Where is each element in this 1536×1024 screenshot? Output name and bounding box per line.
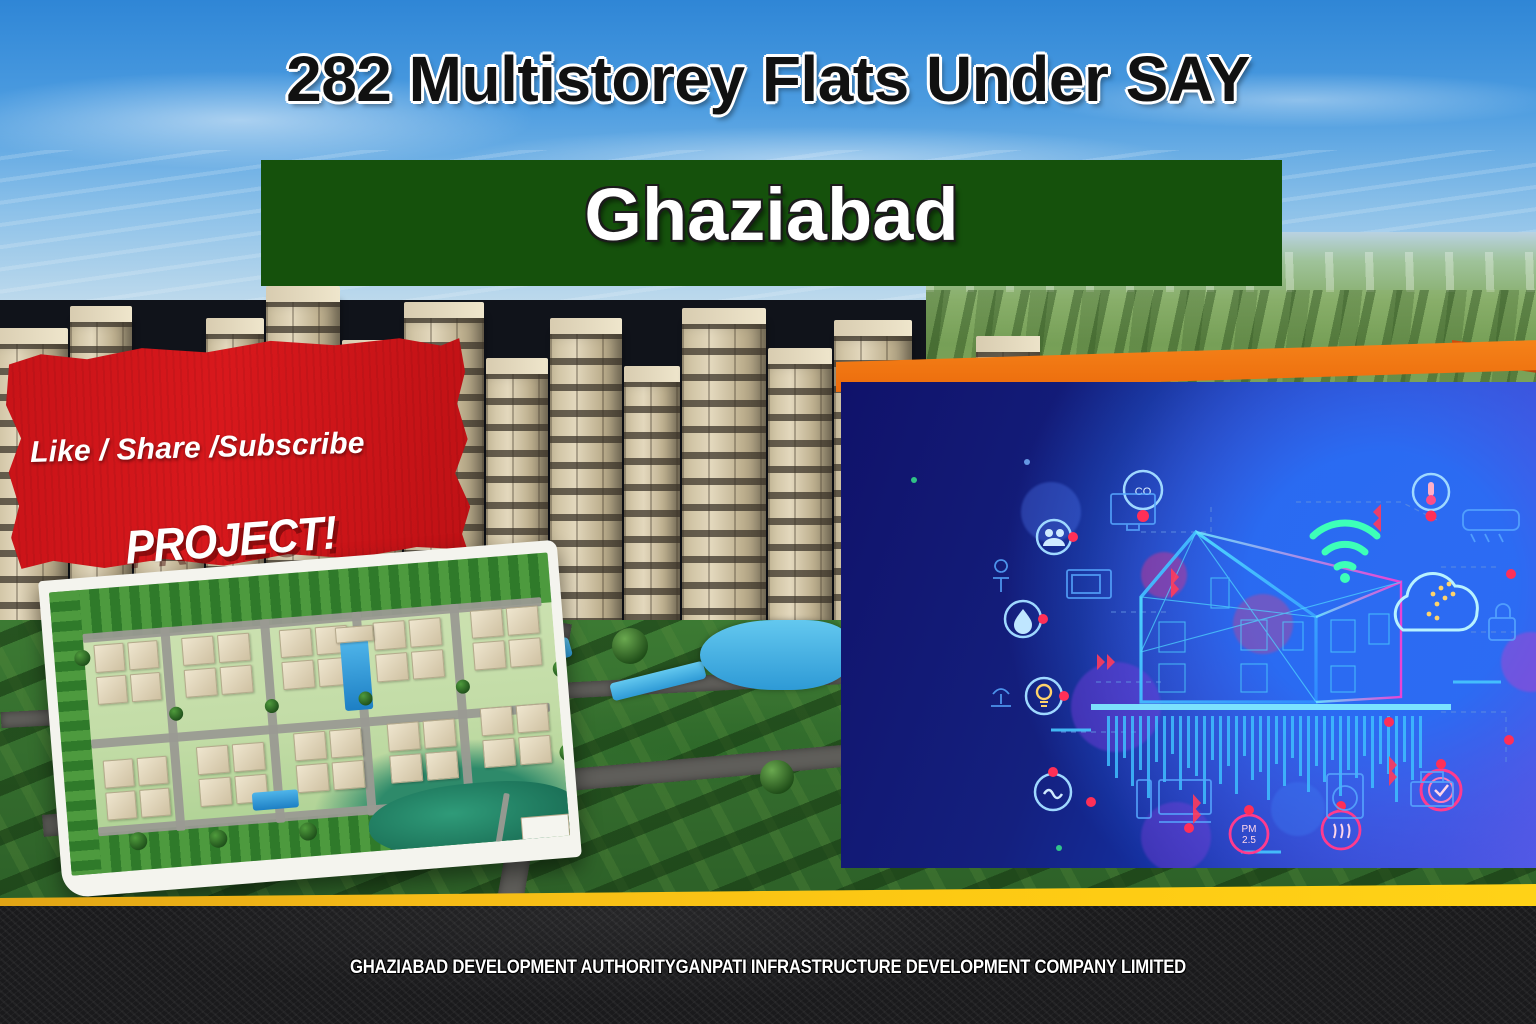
svg-text:2.5: 2.5 (1242, 835, 1256, 846)
lock-icon (1489, 604, 1515, 640)
microwave-icon (1067, 570, 1111, 598)
page-title: 282 Multistorey Flats Under SAY (0, 46, 1536, 113)
co2-sensor-icon: CO (1124, 471, 1162, 522)
wifi-icon (1313, 523, 1377, 567)
smart-home-panel: CO (841, 382, 1536, 868)
air-conditioner-icon (1463, 510, 1519, 542)
svg-text:PM: PM (1242, 824, 1257, 835)
people-occupancy-icon (1037, 520, 1078, 554)
site-plan-card (38, 540, 582, 899)
promo-poster: 282 Multistorey Flats Under SAY Ghaziaba… (0, 0, 1536, 1024)
iot-graphic: CO (841, 382, 1536, 868)
plant-sensor-icon (991, 689, 1011, 706)
subtitle-banner: Ghaziabad (261, 160, 1282, 286)
humidity-drop-icon (1005, 601, 1048, 637)
pm25-sensor-icon: PM 2.5 (1230, 805, 1268, 853)
check-shield-icon (1421, 759, 1461, 810)
wave-sensor-icon (1035, 767, 1071, 810)
monitor-icon (1111, 494, 1155, 530)
light-bulb-icon (1026, 678, 1069, 714)
thermometer-icon (1413, 474, 1449, 522)
footer-bar: GHAZIABAD DEVELOPMENT AUTHORITYGANPATI I… (0, 906, 1536, 1024)
footer-credits: GHAZIABAD DEVELOPMENT AUTHORITYGANPATI I… (92, 957, 1444, 979)
svg-text:CO: CO (1135, 486, 1152, 498)
garden-light-icon (993, 560, 1009, 592)
site-plan-image (49, 552, 570, 875)
subtitle-text: Ghaziabad (261, 178, 1282, 252)
